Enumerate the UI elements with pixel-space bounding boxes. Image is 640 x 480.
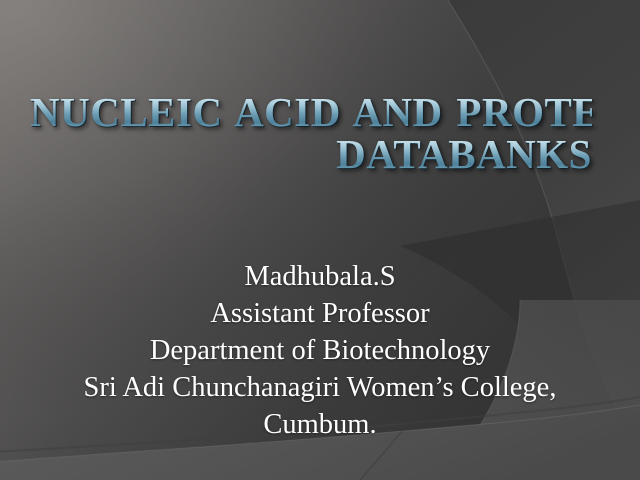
slide-title: NUCLEIC ACID AND PROTEIN DATABANKS bbox=[30, 92, 592, 176]
author-designation: Assistant Professor bbox=[70, 295, 570, 332]
slide-title-line-2: DATABANKS bbox=[30, 134, 592, 176]
author-name: Madhubala.S bbox=[70, 258, 570, 295]
author-department: Department of Biotechnology bbox=[70, 332, 570, 369]
author-institution: Sri Adi Chunchanagiri Women’s College, C… bbox=[70, 369, 570, 443]
presentation-slide: NUCLEIC ACID AND PROTEIN DATABANKS Madhu… bbox=[0, 0, 640, 480]
slide-subtitle-block: Madhubala.S Assistant Professor Departme… bbox=[70, 258, 570, 443]
slide-title-line-1: NUCLEIC ACID AND PROTEIN bbox=[30, 92, 592, 134]
